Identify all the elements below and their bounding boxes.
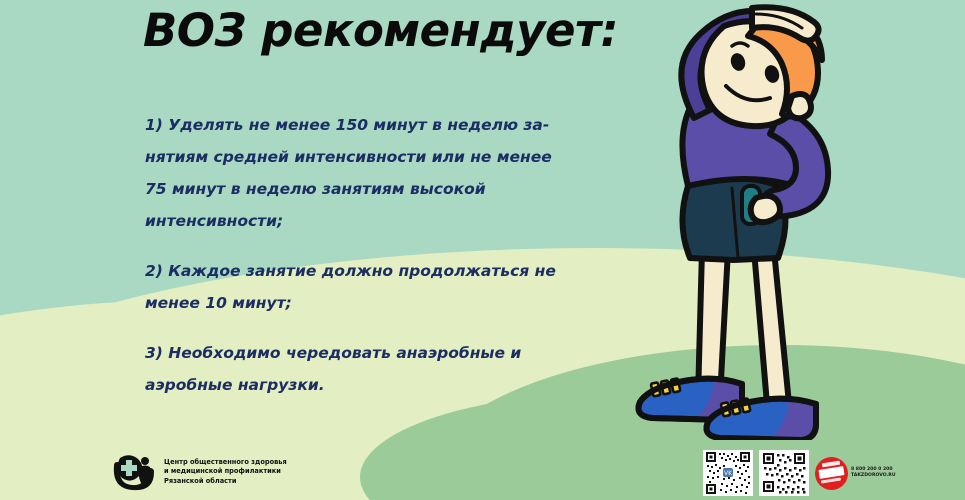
recommendation-line: 2) Каждое занятие должно продолжаться не xyxy=(145,258,605,284)
takzdorovo-logo-icon xyxy=(815,457,848,490)
logo-line-2: и медицинской профилактики xyxy=(164,467,287,476)
site-qr-code[interactable] xyxy=(759,450,809,496)
poster-canvas: ВОЗ рекомендует: 1) Уделять не менее 150… xyxy=(0,0,965,500)
recommendation-line: менее 10 минут; xyxy=(145,290,605,316)
hotline-site: TAKZDOROVO.RU xyxy=(851,473,896,479)
svg-text:VK: VK xyxy=(724,470,733,477)
recommendation-line: интенсивности; xyxy=(145,208,605,234)
logo-line-1: Центр общественного здоровья xyxy=(164,458,287,467)
takzdorovo-hotline-badge[interactable]: 8 800 200 0 200 TAKZDOROVO.RU xyxy=(815,456,896,490)
footer-marks: VK xyxy=(703,450,896,496)
recommendation-line: 1) Уделять не менее 150 минут в неделю з… xyxy=(145,112,605,138)
recommendation-line: 3) Необходимо чередовать анаэробные и xyxy=(145,340,605,366)
organization-logo: Центр общественного здоровья и медицинск… xyxy=(110,452,287,492)
person-neck-stretch-illustration xyxy=(596,0,906,440)
organization-name: Центр общественного здоровья и медицинск… xyxy=(164,458,287,486)
logo-line-3: Рязанской области xyxy=(164,477,287,486)
hotline-text: 8 800 200 0 200 TAKZDOROVO.RU xyxy=(851,467,896,480)
health-center-emblem-icon xyxy=(110,452,156,492)
recommendation-line: аэробные нагрузки. xyxy=(145,372,605,398)
vk-qr-code[interactable]: VK xyxy=(703,450,753,496)
recommendations-list: 1) Уделять не менее 150 минут в неделю з… xyxy=(145,112,605,404)
page-title: ВОЗ рекомендует: xyxy=(143,4,618,58)
recommendation-line: 75 минут в неделю занятиям высокой xyxy=(145,176,605,202)
recommendation-line: нятиям средней интенсивности или не мене… xyxy=(145,144,605,170)
